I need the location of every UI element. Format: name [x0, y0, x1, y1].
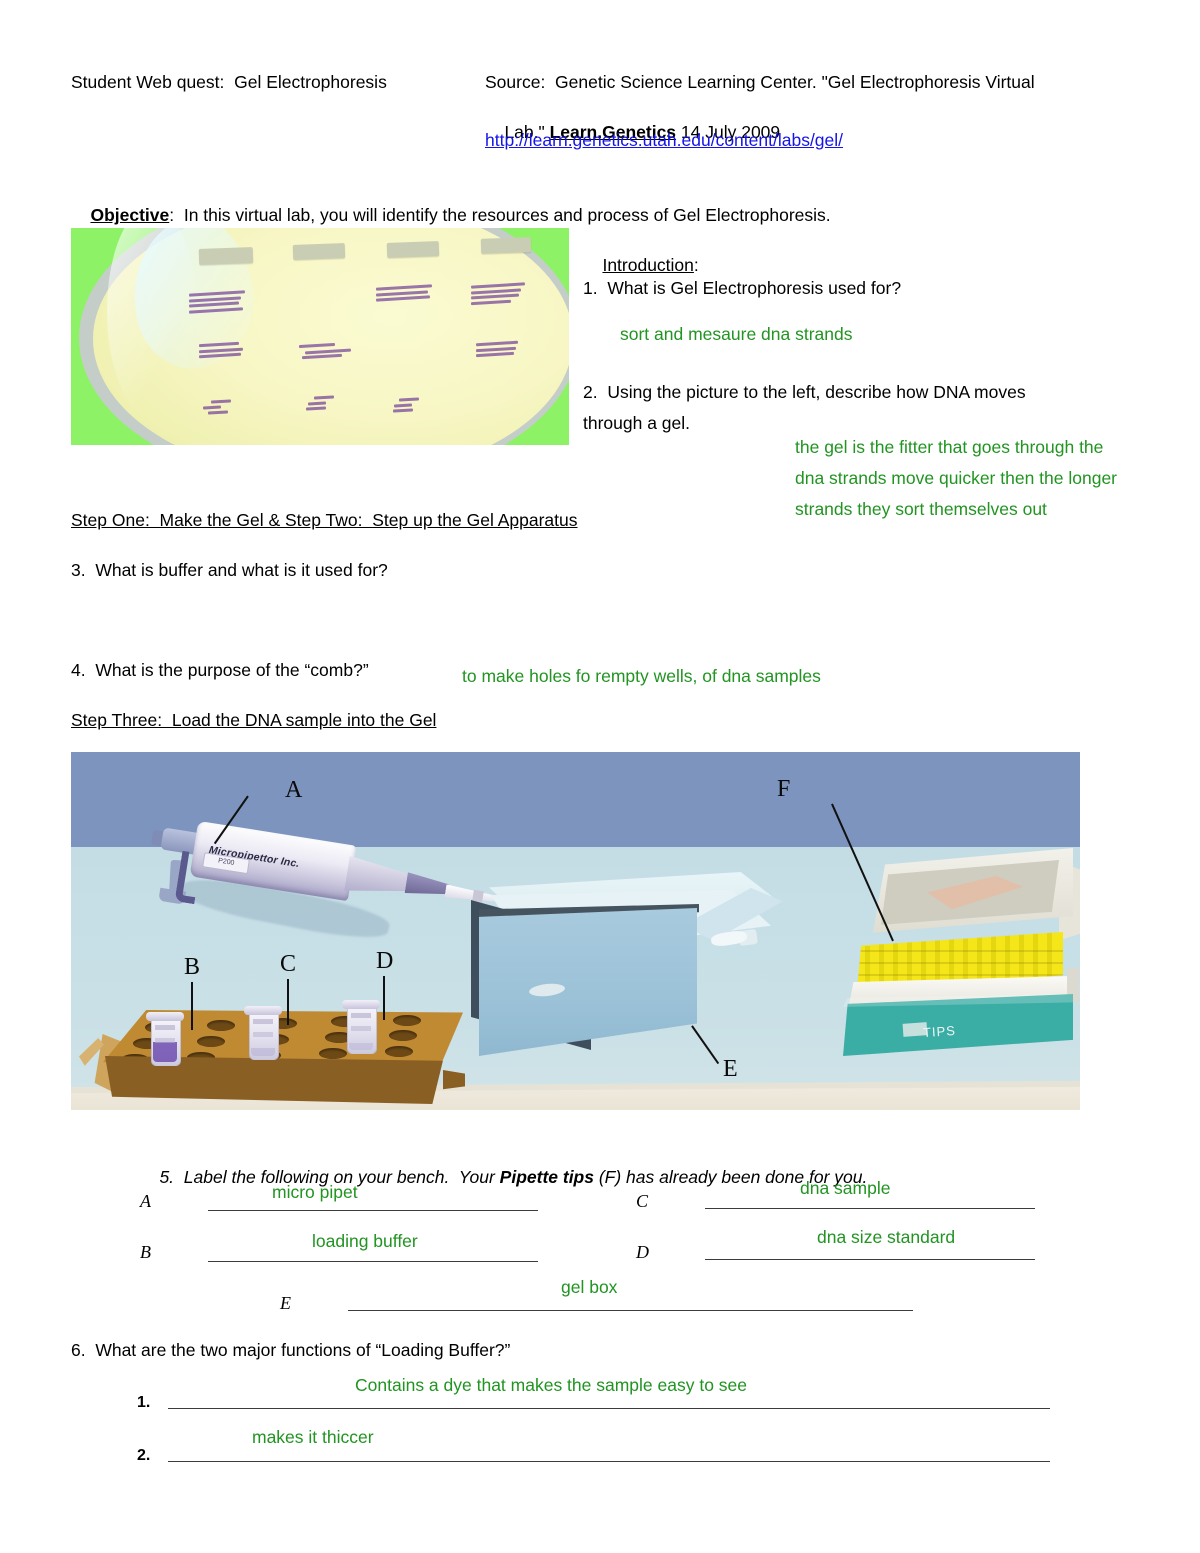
- answer-line-b[interactable]: [208, 1261, 538, 1262]
- answer-line-d[interactable]: [705, 1259, 1035, 1260]
- dna-band-group: [199, 343, 247, 360]
- callout-leader-c: [287, 979, 289, 1025]
- answer-label-e[interactable]: gel box: [561, 1275, 617, 1300]
- answer-line-c[interactable]: [705, 1208, 1035, 1209]
- label-letter-c: C: [636, 1189, 648, 1214]
- gel-well: [199, 247, 254, 265]
- lab-bench-illustration: Micropipettor Inc. P200: [71, 752, 1080, 1110]
- question-1: 1. What is Gel Electrophoresis used for?: [583, 276, 901, 301]
- dna-band-group: [299, 344, 353, 361]
- answer-label-a[interactable]: micro pipet: [272, 1180, 358, 1205]
- callout-leader-b: [191, 982, 193, 1030]
- tube-rack-foot: [443, 1070, 465, 1090]
- label-letter-d: D: [636, 1240, 649, 1265]
- question-6-item-2-number: 2.: [137, 1443, 150, 1468]
- introduction-heading-text: Introduction: [602, 255, 693, 275]
- question-6-item-2-answer[interactable]: makes it thiccer: [252, 1425, 374, 1450]
- answer-label-b[interactable]: loading buffer: [312, 1229, 418, 1254]
- answer-line-a[interactable]: [208, 1210, 538, 1211]
- callout-letter-a: A: [285, 777, 302, 804]
- question-4: 4. What is the purpose of the “comb?”: [71, 658, 369, 683]
- question-2-line-1: 2. Using the picture to the left, descri…: [583, 380, 1026, 405]
- answer-2-line-1[interactable]: the gel is the fitter that goes through …: [795, 435, 1103, 460]
- question-5-prompt-emphasis: Pipette tips: [500, 1167, 594, 1187]
- answer-line-6-1[interactable]: [168, 1408, 1050, 1409]
- question-2-line-2: through a gel.: [583, 411, 690, 436]
- question-6-item-1-answer[interactable]: Contains a dye that makes the sample eas…: [355, 1373, 747, 1398]
- dna-band-group: [376, 286, 436, 303]
- callout-leader-d: [383, 976, 385, 1020]
- dna-band-group: [476, 342, 524, 359]
- answer-label-c[interactable]: dna sample: [800, 1176, 890, 1201]
- objective-label: Objective: [90, 205, 169, 225]
- dna-band-group: [393, 398, 425, 415]
- answer-2-line-2[interactable]: dna strands move quicker then the longer: [795, 466, 1117, 491]
- callout-letter-f: F: [777, 776, 790, 803]
- dna-band-group: [203, 400, 233, 417]
- gel-box-front-panel: [479, 908, 697, 1056]
- question-3: 3. What is buffer and what is it used fo…: [71, 558, 388, 583]
- gel-well: [293, 243, 345, 260]
- source-line-1: Source: Genetic Science Learning Center.…: [485, 70, 1035, 95]
- source-url-link[interactable]: http://learn.genetics.utah.edu/content/l…: [485, 128, 843, 153]
- step-one-two-heading: Step One: Make the Gel & Step Two: Step …: [71, 508, 578, 533]
- answer-4[interactable]: to make holes fo rempty wells, of dna sa…: [462, 664, 821, 689]
- gel-box: [471, 872, 801, 1072]
- gel-well: [481, 237, 531, 254]
- dna-sample-tube: [249, 1006, 277, 1058]
- loading-buffer-tube: [151, 1012, 179, 1064]
- step-three-heading: Step Three: Load the DNA sample into the…: [71, 708, 436, 733]
- label-letter-a: A: [140, 1189, 151, 1214]
- answer-2-line-3[interactable]: strands they sort themselves out: [795, 497, 1047, 522]
- answer-1[interactable]: sort and mesaure dna strands: [620, 322, 853, 347]
- introduction-heading-colon: :: [694, 255, 699, 275]
- dna-band-group: [189, 292, 247, 314]
- callout-letter-b: B: [184, 954, 200, 981]
- objective-text: : In this virtual lab, you will identify…: [169, 205, 830, 225]
- callout-letter-c: C: [280, 951, 296, 978]
- page-title: Student Web quest: Gel Electrophoresis: [71, 70, 387, 95]
- worksheet-page: Student Web quest: Gel Electrophoresis S…: [0, 0, 1200, 1553]
- callout-letter-d: D: [376, 948, 393, 975]
- gel-well: [387, 241, 439, 258]
- dna-band-group: [471, 284, 529, 306]
- answer-label-d[interactable]: dna size standard: [817, 1225, 955, 1250]
- question-5-prompt: 5. Label the following on your bench. Yo…: [140, 1140, 867, 1215]
- label-letter-b: B: [140, 1240, 151, 1265]
- pipette-tips-box: TIPS: [831, 848, 1080, 1058]
- label-letter-e: E: [280, 1291, 291, 1316]
- callout-letter-e: E: [723, 1056, 738, 1083]
- dna-band-group: [306, 396, 338, 413]
- question-6-prompt: 6. What are the two major functions of “…: [71, 1338, 510, 1363]
- dna-size-standard-tube: [347, 1000, 375, 1052]
- gel-electrophoresis-photo: [71, 228, 569, 445]
- question-6-item-1-number: 1.: [137, 1390, 150, 1415]
- tube-rack: [81, 1010, 481, 1110]
- tips-box-label: TIPS: [923, 1023, 957, 1040]
- answer-line-6-2[interactable]: [168, 1461, 1050, 1462]
- answer-line-e[interactable]: [348, 1310, 913, 1311]
